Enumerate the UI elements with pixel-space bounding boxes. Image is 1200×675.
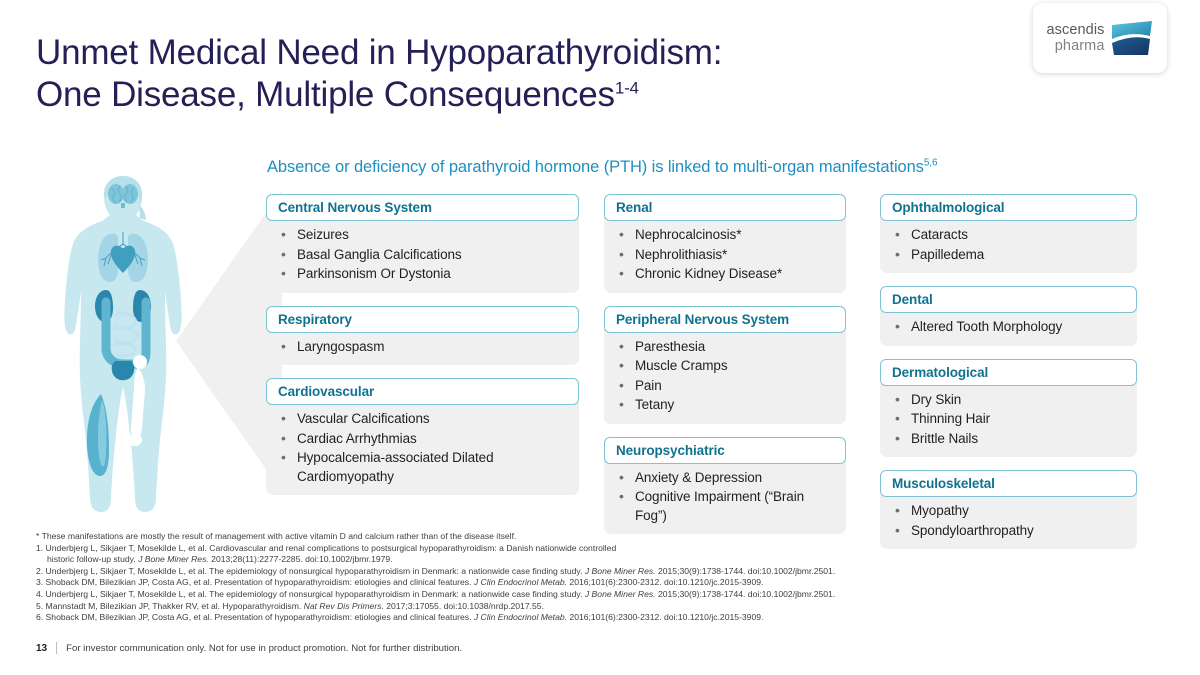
slide: ascendis pharma — [0, 0, 1200, 675]
card-header: Neuropsychiatric — [604, 437, 846, 464]
manifestation-card: Central Nervous SystemSeizuresBasal Gang… — [266, 194, 579, 293]
list-item: Chronic Kidney Disease* — [614, 265, 836, 284]
column-1: Central Nervous SystemSeizuresBasal Gang… — [266, 194, 579, 495]
symptom-list: Dry SkinThinning HairBrittle Nails — [890, 391, 1127, 449]
manifestation-card: DermatologicalDry SkinThinning HairBritt… — [880, 359, 1137, 458]
title-line-1: Unmet Medical Need in Hypoparathyroidism… — [36, 33, 722, 72]
manifestation-card: RespiratoryLaryngospasm — [266, 306, 579, 366]
column-2: RenalNephrocalcinosis*Nephrolithiasis*Ch… — [604, 194, 846, 534]
card-header: Cardiovascular — [266, 378, 579, 405]
footnote-line: 6. Shoback DM, Bilezikian JP, Costa AG, … — [36, 612, 1166, 624]
symptom-list: MyopathySpondyloarthropathy — [890, 502, 1127, 540]
logo-text-ascendis: ascendis — [1046, 23, 1104, 38]
ascendis-swoosh-icon — [1110, 19, 1154, 57]
manifestation-card: OphthalmologicalCataractsPapilledema — [880, 194, 1137, 273]
list-item: Myopathy — [890, 502, 1127, 521]
card-body: Dry SkinThinning HairBrittle Nails — [880, 383, 1137, 458]
list-item: Basal Ganglia Calcifications — [276, 246, 569, 265]
symptom-list: SeizuresBasal Ganglia CalcificationsPark… — [276, 226, 569, 284]
list-item: Altered Tooth Morphology — [890, 318, 1127, 337]
list-item: Laryngospasm — [276, 338, 569, 357]
symptom-list: ParesthesiaMuscle CrampsPainTetany — [614, 338, 836, 415]
list-item: Cataracts — [890, 226, 1127, 245]
card-body: SeizuresBasal Ganglia CalcificationsPark… — [266, 218, 579, 293]
card-header: Ophthalmological — [880, 194, 1137, 221]
card-body: Laryngospasm — [266, 330, 579, 366]
list-item: Thinning Hair — [890, 410, 1127, 429]
card-body: MyopathySpondyloarthropathy — [880, 494, 1137, 549]
manifestation-card: CardiovascularVascular CalcificationsCar… — [266, 378, 579, 495]
card-body: ParesthesiaMuscle CrampsPainTetany — [604, 330, 846, 424]
subtitle-superscript: 5,6 — [924, 158, 938, 169]
card-header: Dental — [880, 286, 1137, 313]
list-item: Paresthesia — [614, 338, 836, 357]
symptom-list: Altered Tooth Morphology — [890, 318, 1127, 337]
card-body: Anxiety & DepressionCognitive Impairment… — [604, 461, 846, 535]
list-item: Dry Skin — [890, 391, 1127, 410]
company-logo: ascendis pharma — [1033, 3, 1167, 73]
footer-divider — [56, 642, 57, 654]
list-item: Tetany — [614, 396, 836, 415]
footnote-line: 2. Underbjerg L, Sikjaer T, Mosekilde L,… — [36, 566, 1166, 578]
list-item: Cardiac Arrhythmias — [276, 430, 569, 449]
subtitle: Absence or deficiency of parathyroid hor… — [267, 158, 937, 177]
manifestation-card: DentalAltered Tooth Morphology — [880, 286, 1137, 346]
list-item: Hypocalcemia-associated Dilated Cardiomy… — [276, 449, 569, 486]
manifestation-card: Peripheral Nervous SystemParesthesiaMusc… — [604, 306, 846, 424]
column-3: OphthalmologicalCataractsPapilledemaDent… — [880, 194, 1137, 549]
page-title: Unmet Medical Need in Hypoparathyroidism… — [36, 32, 936, 116]
footer-disclaimer: For investor communication only. Not for… — [66, 643, 462, 654]
manifestation-card: MusculoskeletalMyopathySpondyloarthropat… — [880, 470, 1137, 549]
footnote-line: 5. Mannstadt M, Bilezikian JP, Thakker R… — [36, 601, 1166, 613]
card-body: Altered Tooth Morphology — [880, 310, 1137, 346]
list-item: Papilledema — [890, 246, 1127, 265]
list-item: Pain — [614, 377, 836, 396]
manifestation-card: RenalNephrocalcinosis*Nephrolithiasis*Ch… — [604, 194, 846, 293]
footnote-line: 4. Underbjerg L, Sikjaer T, Mosekilde L,… — [36, 589, 1166, 601]
symptom-list: Anxiety & DepressionCognitive Impairment… — [614, 469, 836, 526]
list-item: Parkinsonism Or Dystonia — [276, 265, 569, 284]
symptom-list: Nephrocalcinosis*Nephrolithiasis*Chronic… — [614, 226, 836, 284]
slide-footer: 13 For investor communication only. Not … — [36, 642, 462, 654]
card-header: Respiratory — [266, 306, 579, 333]
symptom-list: Laryngospasm — [276, 338, 569, 357]
human-body-illustration — [58, 172, 188, 517]
list-item: Anxiety & Depression — [614, 469, 836, 488]
card-header: Central Nervous System — [266, 194, 579, 221]
card-header: Musculoskeletal — [880, 470, 1137, 497]
subtitle-text: Absence or deficiency of parathyroid hor… — [267, 158, 924, 176]
footnote-line: 3. Shoback DM, Bilezikian JP, Costa AG, … — [36, 577, 1166, 589]
title-line-2: One Disease, Multiple Consequences — [36, 75, 615, 114]
title-superscript: 1-4 — [615, 78, 639, 97]
card-body: Nephrocalcinosis*Nephrolithiasis*Chronic… — [604, 218, 846, 293]
symptom-list: CataractsPapilledema — [890, 226, 1127, 264]
card-header: Peripheral Nervous System — [604, 306, 846, 333]
list-item: Vascular Calcifications — [276, 410, 569, 429]
page-number: 13 — [36, 643, 47, 654]
list-item: Seizures — [276, 226, 569, 245]
footnote-line: historic follow-up study. J Bone Miner R… — [36, 554, 1166, 566]
list-item: Muscle Cramps — [614, 357, 836, 376]
manifestation-card: NeuropsychiatricAnxiety & DepressionCogn… — [604, 437, 846, 535]
list-item: Nephrolithiasis* — [614, 246, 836, 265]
card-header: Dermatological — [880, 359, 1137, 386]
list-item: Brittle Nails — [890, 430, 1127, 449]
list-item: Cognitive Impairment (“Brain Fog”) — [614, 488, 836, 525]
symptom-list: Vascular CalcificationsCardiac Arrhythmi… — [276, 410, 569, 486]
list-item: Nephrocalcinosis* — [614, 226, 836, 245]
logo-text-pharma: pharma — [1055, 39, 1105, 54]
card-body: Vascular CalcificationsCardiac Arrhythmi… — [266, 402, 579, 495]
card-body: CataractsPapilledema — [880, 218, 1137, 273]
list-item: Spondyloarthropathy — [890, 522, 1127, 541]
card-header: Renal — [604, 194, 846, 221]
